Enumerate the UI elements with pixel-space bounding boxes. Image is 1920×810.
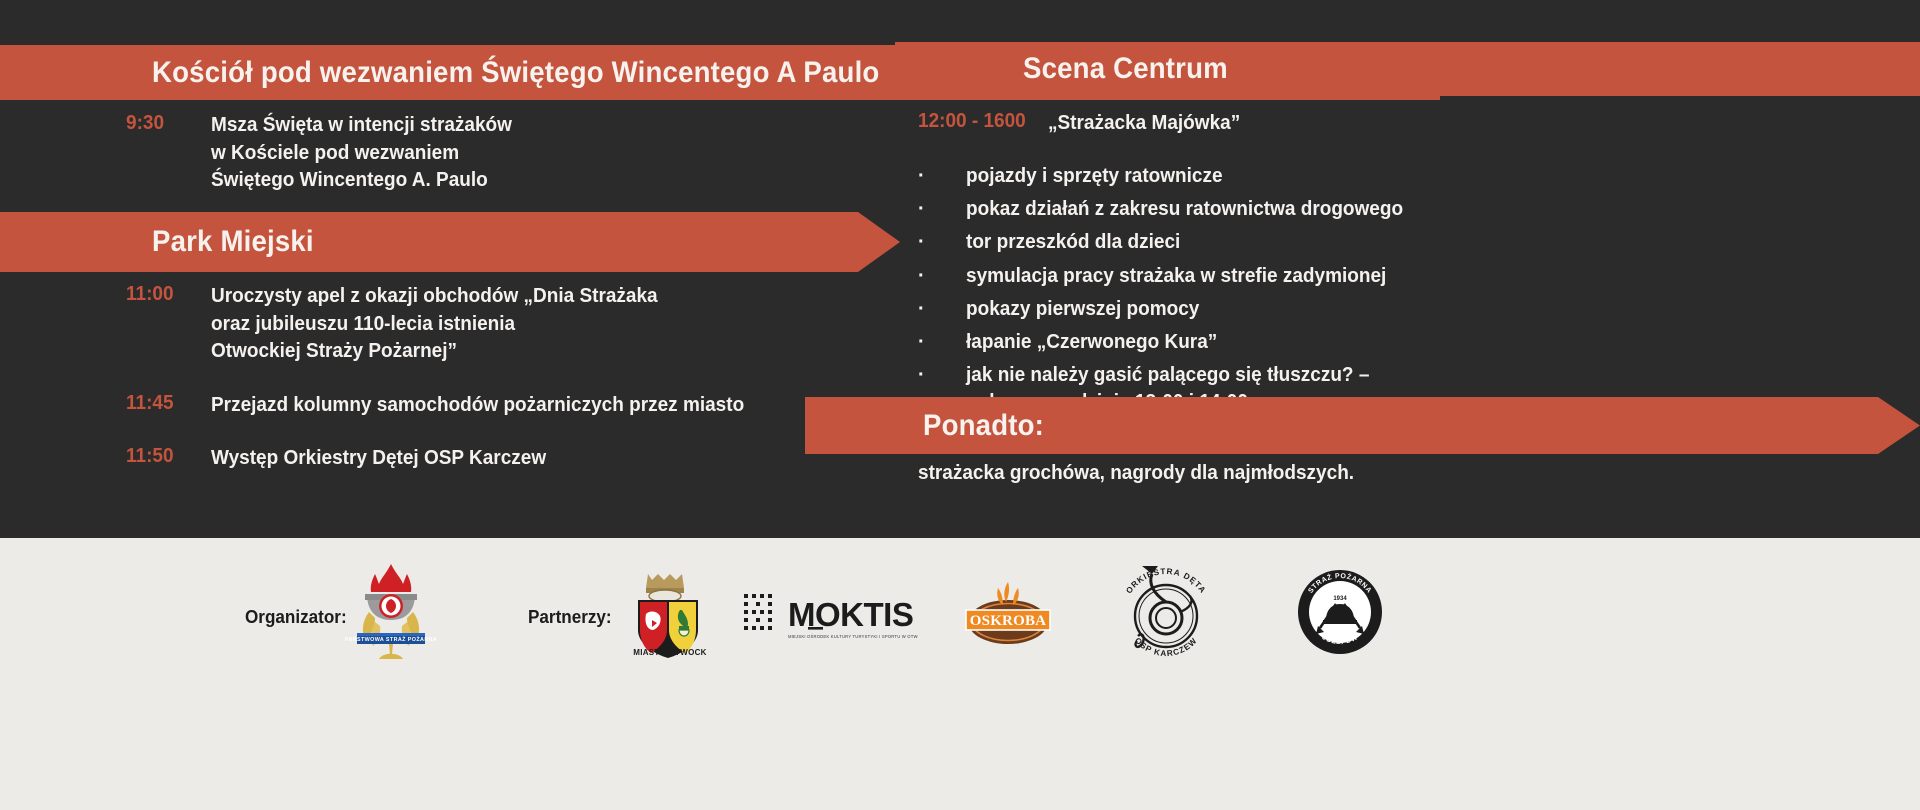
banner-park-title: Park Miejski <box>152 225 314 259</box>
schedule-row-0930: 9:30 Msza Święta w intencji strażaków w … <box>126 112 528 195</box>
schedule-description: Uroczysty apel z okazji obchodów „Dnia S… <box>211 283 658 366</box>
list-item-label: tor przeszkód dla dzieci <box>966 229 1180 256</box>
otwock-crest-logo <box>630 570 706 658</box>
banner-church-title: Kościół pod wezwaniem Świętego Wincenteg… <box>152 56 879 90</box>
oskroba-logo: OSKROBA <box>958 578 1058 648</box>
bullet-marker-icon: · <box>918 196 966 223</box>
bullet-marker-icon: · <box>918 229 966 256</box>
banner-scena-centrum: Scena Centrum <box>895 42 1920 96</box>
schedule-time: 11:50 <box>126 445 207 468</box>
list-item: · pokaz działań z zakresu ratownictwa dr… <box>918 196 1426 223</box>
list-item-label: łapanie „Czerwonego Kura” <box>966 329 1217 356</box>
schedule-description: „Strażacka Majówka” <box>1048 110 1240 138</box>
organizer-label: Organizator: <box>245 607 347 628</box>
schedule-time: 12:00 - 1600 <box>918 110 1042 133</box>
schedule-description: Przejazd kolumny samochodów pożarniczych… <box>211 392 744 420</box>
schedule-row-1200: 12:00 - 1600 „Strażacka Majówka” <box>918 110 1250 138</box>
list-item-label: symulacja pracy strażaka w strefie zadym… <box>966 263 1386 290</box>
list-item: · pokazy pierwszej pomocy <box>918 296 1426 323</box>
banner-scena-title: Scena Centrum <box>1023 52 1228 86</box>
svg-text:ORKIESTRA DĘTA: ORKIESTRA DĘTA <box>1124 567 1207 595</box>
orkiestra-ring-top: ORKIESTRA DĘTA <box>1124 567 1207 595</box>
list-item-label: pojazdy i sprzęty ratownicze <box>966 163 1223 190</box>
jozefow-year: 1934 <box>1333 596 1347 602</box>
list-item-label: pokazy pierwszej pomocy <box>966 296 1199 323</box>
bullet-marker-icon: · <box>918 296 966 323</box>
bullet-marker-icon: · <box>918 263 966 290</box>
schedule-description: Msza Święta w intencji strażaków w Kości… <box>211 112 512 195</box>
partners-label: Partnerzy: <box>528 607 612 628</box>
banner-park-miejski: Park Miejski <box>0 212 900 272</box>
list-item: · łapanie „Czerwonego Kura” <box>918 329 1426 356</box>
poster-root: Kościół pod wezwaniem Świętego Wincenteg… <box>0 0 1920 810</box>
bullet-marker-icon: · <box>918 329 966 356</box>
moktis-wordmark: MOKTIS <box>788 596 913 633</box>
list-item-label: pokaz działań z zakresu ratownictwa drog… <box>966 196 1403 223</box>
list-item: · pojazdy i sprzęty ratownicze <box>918 163 1426 190</box>
bullet-marker-icon: · <box>918 362 966 389</box>
psp-emblem-logo: PAŃSTWOWA STRAŻ POŻARNA <box>345 562 437 660</box>
banner-ponadto-title: Ponadto: <box>923 409 1044 443</box>
schedule-description: Występ Orkiestry Dętej OSP Karczew <box>211 445 546 473</box>
orkiestra-logo: ORKIESTRA DĘTA OSP KARCZEW <box>1096 560 1236 660</box>
schedule-row-1145: 11:45 Przejazd kolumny samochodów pożarn… <box>126 392 772 420</box>
schedule-row-1150: 11:50 Występ Orkiestry Dętej OSP Karczew <box>126 445 564 473</box>
bullet-marker-icon: · <box>918 163 966 190</box>
banner-ponadto: Ponadto: <box>805 397 1920 454</box>
oskroba-wordmark: OSKROBA <box>970 613 1046 629</box>
moktis-logo: MOKTIS MIEJSKI OŚRODEK KULTURY TURYSTYKI… <box>742 588 918 642</box>
otwock-crest-caption: MIASTO OTWOCK <box>630 648 710 657</box>
moktis-tagline: MIEJSKI OŚRODEK KULTURY TURYSTYKI I SPOR… <box>788 634 918 639</box>
schedule-time: 11:45 <box>126 392 207 415</box>
schedule-time: 11:00 <box>126 283 207 306</box>
svg-text:PAŃSTWOWA STRAŻ POŻARNA: PAŃSTWOWA STRAŻ POŻARNA <box>345 635 437 643</box>
ponadto-note: strażacka grochówa, nagrody dla najmłods… <box>918 462 1354 485</box>
schedule-time: 9:30 <box>126 112 207 135</box>
list-item: · tor przeszkód dla dzieci <box>918 229 1426 256</box>
jozefow-logo: 1934 STRAŻ POŻARNA JÓZEFÓW <box>1296 568 1384 656</box>
attractions-list: · pojazdy i sprzęty ratownicze · pokaz d… <box>918 163 1426 423</box>
schedule-row-1100: 11:00 Uroczysty apel z okazji obchodów „… <box>126 283 681 366</box>
list-item: · symulacja pracy strażaka w strefie zad… <box>918 263 1426 290</box>
